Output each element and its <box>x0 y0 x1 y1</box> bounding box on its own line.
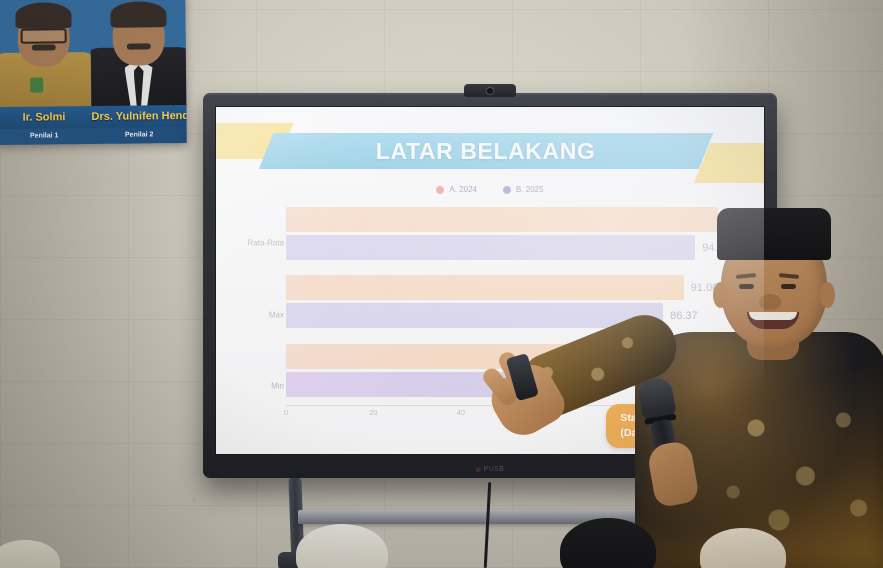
poster-role-2: Penilai 2 <box>92 131 187 139</box>
legend-label-1: B. 2025 <box>516 185 544 194</box>
legend-swatch-icon <box>503 186 511 194</box>
poster-emblem-icon <box>30 78 43 93</box>
chart-legend: A. 2024 B. 2025 <box>216 185 764 194</box>
glasses-icon <box>20 28 66 43</box>
presenter-nose <box>759 294 781 310</box>
slide-title: LATAR BELAKANG <box>376 138 596 165</box>
x-tick-0: 0 <box>284 408 288 417</box>
tv-brand-text: PUSB <box>484 466 505 473</box>
presenter <box>629 200 883 568</box>
poster-role-band: Penilai 1 Penilai 2 <box>0 127 187 143</box>
legend-label-0: A. 2024 <box>449 185 477 194</box>
presenter-eye-right <box>781 284 796 289</box>
x-tick-2: 40 <box>457 408 465 417</box>
poster-role-1: Penilai 1 <box>0 131 92 139</box>
presenter-eye-left <box>739 284 754 289</box>
y-axis-label-0: Rata-Rata <box>238 239 284 248</box>
y-axis-label-1: Max <box>238 310 284 319</box>
poster-photos <box>0 0 186 111</box>
poster-photo-1 <box>0 0 91 111</box>
presenter-teeth <box>749 312 797 320</box>
peci-cap-icon <box>717 208 831 260</box>
y-axis-label-2: Min <box>238 381 284 390</box>
legend-swatch-icon <box>436 186 444 194</box>
poster-name-2: Drs. Yulnifen Hendri <box>91 110 186 123</box>
camera-icon <box>464 84 516 97</box>
presentation-photo-scene: Ir. Solmi Drs. Yulnifen Hendri Penilai 1… <box>0 0 883 568</box>
poster-hair-2 <box>110 1 166 28</box>
tv-brand-logo: PUSB <box>476 466 505 473</box>
presenter-ear-right <box>820 282 835 308</box>
brand-dot-icon <box>476 467 481 472</box>
poster-name-band: Ir. Solmi Drs. Yulnifen Hendri <box>0 105 187 129</box>
slide-title-banner: LATAR BELAKANG <box>259 133 714 169</box>
presenter-ear-left <box>713 282 728 308</box>
poster-moustache-1 <box>31 44 55 50</box>
poster-hair-1 <box>15 2 71 29</box>
power-cable <box>484 482 491 568</box>
legend-item-1: B. 2025 <box>503 185 544 194</box>
legend-item-0: A. 2024 <box>436 185 477 194</box>
poster-photo-2 <box>90 0 186 110</box>
x-tick-1: 20 <box>369 408 377 417</box>
wall-poster-penilai: Ir. Solmi Drs. Yulnifen Hendri Penilai 1… <box>0 0 187 145</box>
poster-moustache-2 <box>126 43 150 49</box>
poster-name-1: Ir. Solmi <box>0 111 92 124</box>
